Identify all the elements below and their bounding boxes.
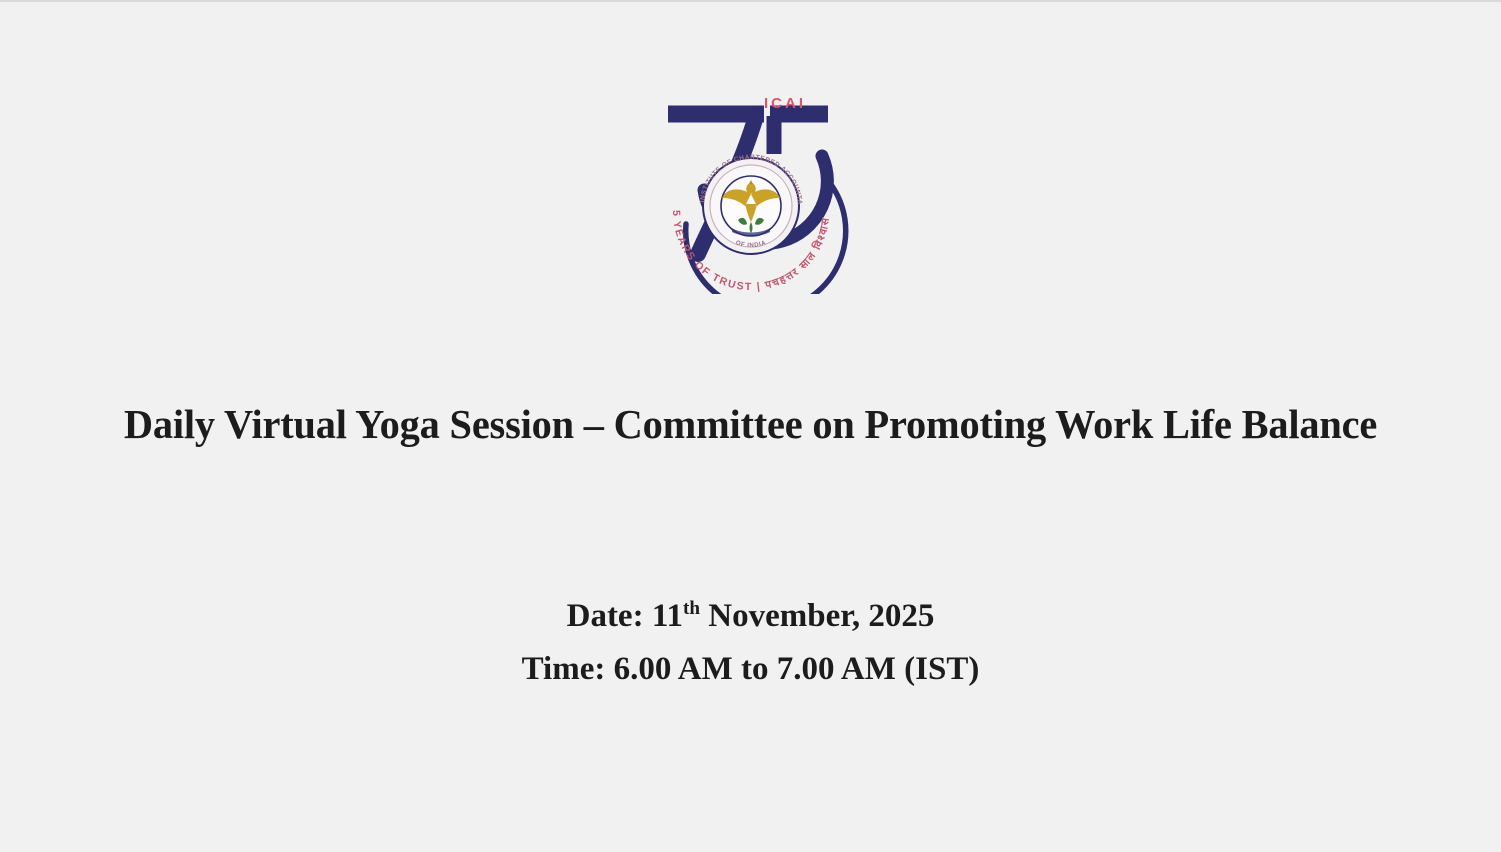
session-date-line: Date: 11th November, 2025: [0, 590, 1501, 643]
slide-title: Daily Virtual Yoga Session – Committee o…: [11, 400, 1489, 449]
session-details: Date: 11th November, 2025 Time: 6.00 AM …: [0, 590, 1501, 697]
logo-acronym-text: ICAI: [764, 95, 806, 112]
icai-75-years-logo: ICAI THE INSTITUTE OF CHARTERED ACCOUNTA…: [646, 94, 856, 294]
presentation-slide: ICAI THE INSTITUTE OF CHARTERED ACCOUNTA…: [0, 0, 1501, 852]
date-day: 11: [652, 598, 683, 634]
session-time-line: Time: 6.00 AM to 7.00 AM (IST): [0, 643, 1501, 696]
date-month-year: November, 2025: [700, 598, 934, 634]
date-label: Date:: [567, 598, 644, 634]
date-ordinal-suffix: th: [683, 598, 700, 619]
